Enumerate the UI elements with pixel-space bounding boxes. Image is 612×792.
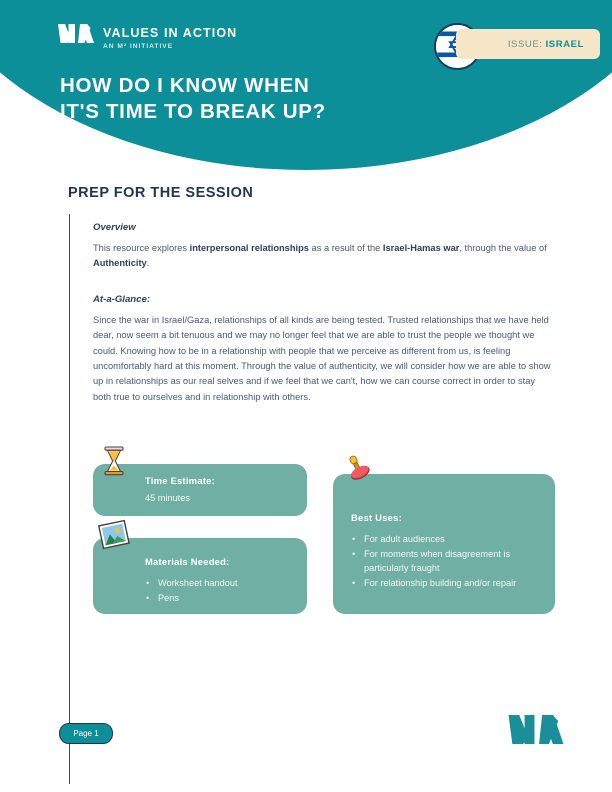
brand-name: VALUES IN ACTION: [103, 26, 237, 40]
page-number-label: Page 1: [73, 729, 98, 738]
hourglass-icon: [97, 444, 131, 478]
overview-text-3: , through the value of: [459, 243, 546, 253]
time-estimate-value: 45 minutes: [145, 493, 307, 503]
brand-subtitle: AN M² INITIATIVE: [103, 41, 237, 52]
overview-bold-1: interpersonal relationships: [190, 243, 309, 253]
overview-block: Overview This resource explores interper…: [93, 222, 555, 272]
section-heading: PREP FOR THE SESSION: [68, 185, 253, 201]
via-logo-icon: [58, 24, 94, 43]
at-a-glance-label: At-a-Glance:: [93, 294, 555, 305]
brand-logo: VALUES IN ACTION AN M² INITIATIVE: [58, 24, 237, 52]
overview-bold-3: Authenticity: [93, 258, 147, 268]
pushpin-icon: [341, 452, 375, 486]
at-a-glance-block: At-a-Glance: Since the war in Israel/Gaz…: [93, 294, 555, 405]
list-item: For adult audiences: [351, 532, 555, 547]
overview-label: Overview: [93, 222, 555, 233]
best-uses-card: Best Uses: For adult audiences For momen…: [333, 474, 555, 614]
content-column: Overview This resource explores interper…: [93, 222, 555, 405]
materials-title: Materials Needed:: [145, 556, 307, 567]
overview-text-4: .: [147, 258, 150, 268]
brand-text: VALUES IN ACTION AN M² INITIATIVE: [103, 24, 237, 52]
overview-text-2: as a result of the: [309, 243, 383, 253]
overview-text: This resource explores interpersonal rel…: [93, 241, 555, 272]
issue-label: ISSUE:: [508, 39, 543, 50]
best-uses-title: Best Uses:: [351, 512, 555, 523]
materials-list: Worksheet handout Pens: [145, 576, 307, 605]
page-title-line-1: HOW DO I KNOW WHEN: [60, 73, 326, 99]
page-number-pill: Page 1: [59, 723, 113, 744]
framed-picture-icon: [97, 518, 131, 552]
best-uses-list: For adult audiences For moments when dis…: [351, 532, 555, 590]
list-item: For relationship building and/or repair: [351, 576, 555, 591]
time-estimate-title: Time Estimate:: [145, 475, 307, 486]
left-vertical-rule: [69, 214, 70, 784]
issue-badge: ISSUE: ISRAEL: [456, 29, 600, 59]
list-item: Worksheet handout: [145, 576, 307, 591]
cards-area: Time Estimate: 45 minutes Materials Need…: [93, 458, 555, 618]
via-logo-footer-icon: [508, 715, 564, 744]
list-item: Pens: [145, 591, 307, 606]
page-title-line-2: IT'S TIME TO BREAK UP?: [60, 99, 326, 125]
issue-value: ISRAEL: [546, 39, 584, 50]
page-title: HOW DO I KNOW WHEN IT'S TIME TO BREAK UP…: [60, 73, 326, 125]
at-a-glance-text: Since the war in Israel/Gaza, relationsh…: [93, 313, 555, 405]
overview-bold-2: Israel-Hamas war: [383, 243, 460, 253]
list-item: For moments when disagreement is particu…: [351, 547, 555, 576]
overview-text-1: This resource explores: [93, 243, 190, 253]
